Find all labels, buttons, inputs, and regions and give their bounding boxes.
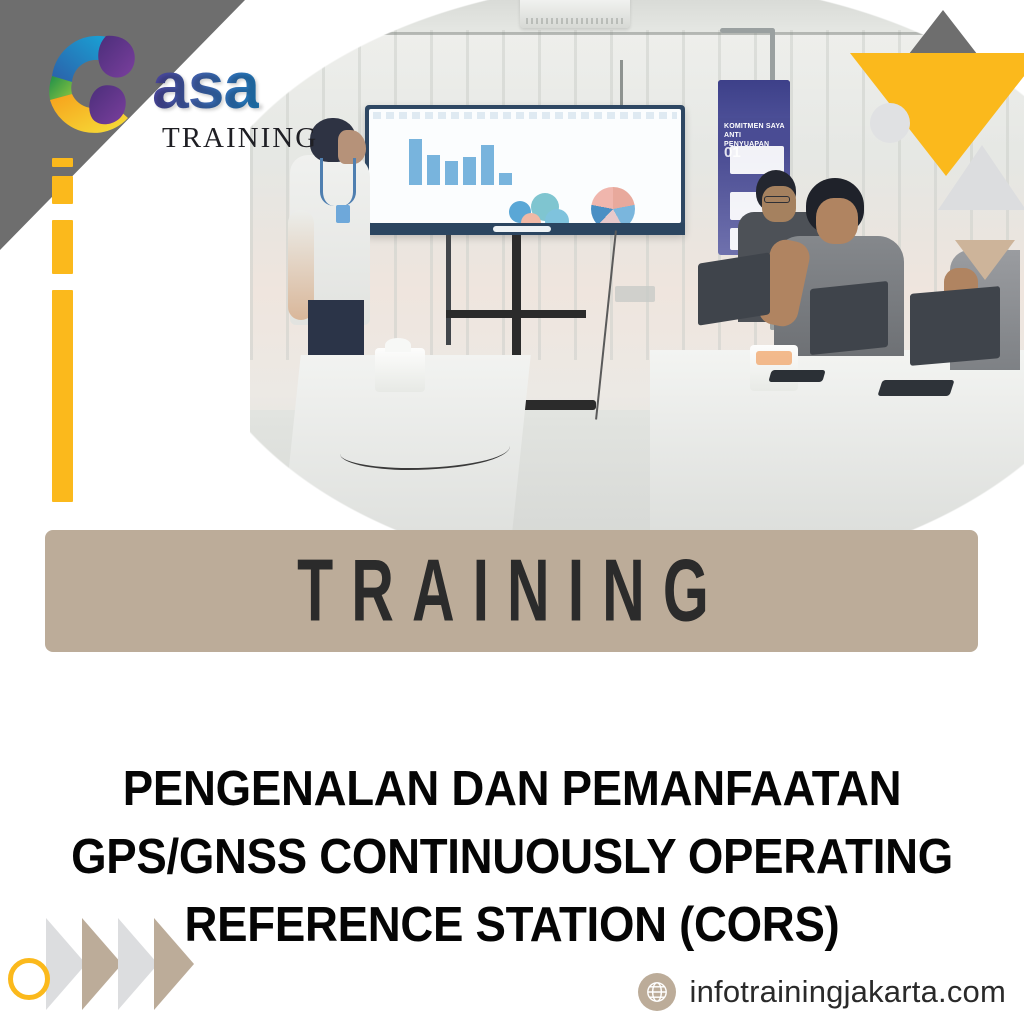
training-banner-label: TRAINING xyxy=(297,541,727,641)
title-line-2: GPS/GNSS CONTINUOUSLY OPERATING xyxy=(36,823,988,891)
tissue-box-left xyxy=(375,348,425,392)
rollup-line1: KOMITMEN SAYA xyxy=(724,122,786,131)
presenter-lanyard xyxy=(320,158,356,206)
screen-pie-chart xyxy=(591,187,635,223)
training-banner: TRAINING xyxy=(45,530,978,652)
yellow-bar-1 xyxy=(52,158,73,167)
display-screen xyxy=(369,109,681,223)
tissue-box-right xyxy=(750,345,798,391)
logo-subtitle: TRAINING xyxy=(162,122,318,155)
casa-training-logo: asa TRAINING xyxy=(34,22,334,150)
display-stand-leg xyxy=(446,235,451,345)
screen-bubble-3 xyxy=(545,209,569,223)
screen-toolbar xyxy=(373,112,677,119)
yellow-ring-icon xyxy=(8,958,50,1000)
device-on-table xyxy=(768,370,825,382)
website-footer[interactable]: infotrainingjakarta.com xyxy=(638,973,1006,1011)
air-conditioner xyxy=(520,0,630,28)
white-circle-icon xyxy=(870,103,910,143)
rollup-header xyxy=(718,80,790,118)
wall-pipe-top xyxy=(720,28,775,33)
laptop-2 xyxy=(810,281,888,355)
display-bottom-bar xyxy=(365,223,685,235)
wall-outlet xyxy=(615,286,655,302)
participant-1-face xyxy=(762,186,796,222)
rollup-number-1: 01 xyxy=(724,144,741,161)
casa-circular-swirl-logo-icon xyxy=(34,24,164,149)
lightgray-up-triangle-icon xyxy=(938,145,1024,210)
chevron-arrows xyxy=(20,918,210,1010)
phone-on-table xyxy=(877,380,954,396)
globe-icon xyxy=(638,973,676,1011)
presentation-display xyxy=(365,105,685,235)
yellow-bar-3 xyxy=(52,220,73,274)
chevron-1-icon xyxy=(46,918,86,1010)
logo-wordmark: asa xyxy=(152,52,259,118)
poster-canvas: KOMITMEN SAYA ANTI PENYUAPAN 01 02 xyxy=(0,0,1024,1024)
website-url[interactable]: infotrainingjakarta.com xyxy=(690,974,1006,1010)
chevron-2-icon xyxy=(82,918,122,1010)
yellow-bar-4 xyxy=(52,290,73,502)
chevron-4-icon xyxy=(154,918,194,1010)
chevron-3-icon xyxy=(118,918,158,1010)
participant-2-face xyxy=(816,198,858,244)
display-stand-shelf xyxy=(446,310,586,318)
ceiling-rail xyxy=(310,32,929,35)
presenter-badge xyxy=(336,205,350,223)
yellow-bar-2 xyxy=(52,176,73,204)
participant-table xyxy=(650,350,1024,560)
title-line-1: PENGENALAN DAN PEMANFAATAN xyxy=(36,755,988,823)
presenter-pants xyxy=(308,300,364,360)
laptop-1 xyxy=(698,252,770,325)
tan-down-triangle-icon xyxy=(955,240,1015,280)
participant-1-glasses xyxy=(764,196,790,203)
laptop-3 xyxy=(910,286,1000,366)
screen-bar-chart xyxy=(409,131,512,185)
